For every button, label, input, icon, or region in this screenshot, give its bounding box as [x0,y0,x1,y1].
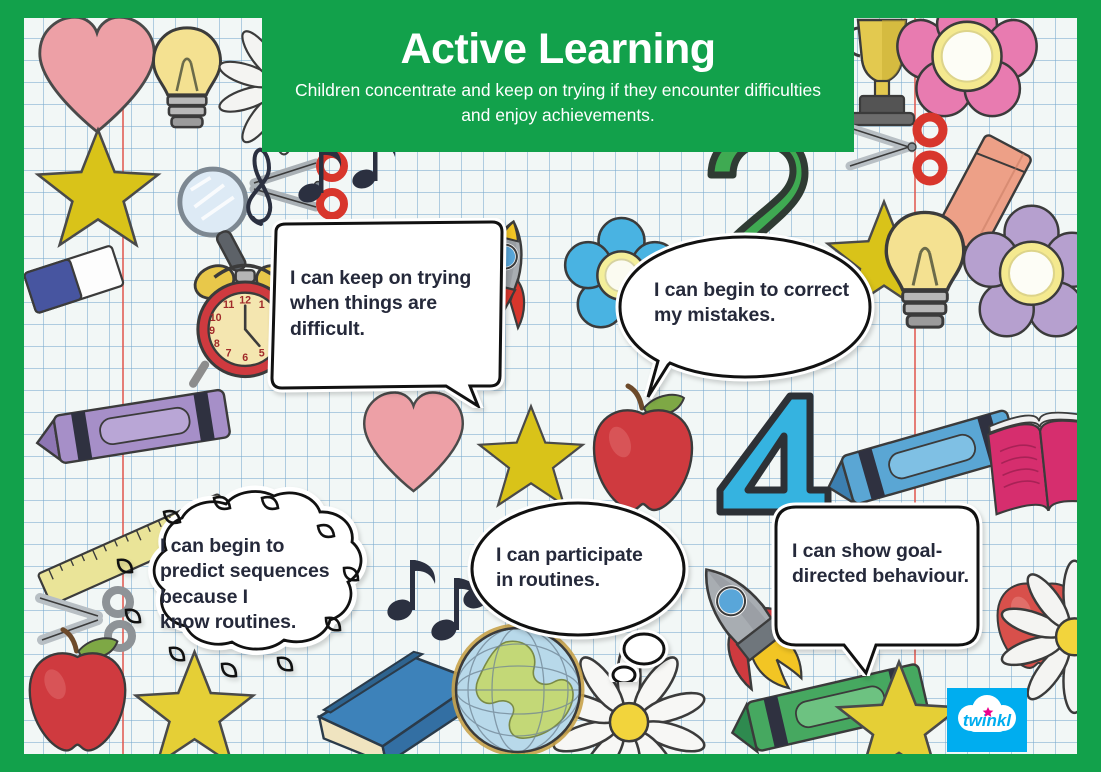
svg-text:10: 10 [210,312,222,324]
lightbulb-yellow-top-left [148,24,226,140]
page-title: Active Learning [286,26,830,72]
svg-text:8: 8 [214,338,220,350]
bubble-keep-on-trying: I can keep on trying when things are dif… [264,218,508,408]
svg-text:7: 7 [226,347,232,359]
frame-left [0,0,24,772]
eraser-white-blue-left [24,244,130,328]
star-yellow-top-left [34,126,162,254]
page-subtitle: Children concentrate and keep on trying … [286,78,830,126]
svg-text:6: 6 [242,352,248,364]
bubble-participate-routines-text: I can participate in routines. [496,543,676,594]
book-pink-right [974,403,1077,533]
bubble-predict-sequences-text: I can begin to predict sequences because… [160,534,360,635]
poster: 1212 345 678 91011 [0,0,1101,772]
flower-purple-right [964,208,1077,343]
frame-right [1077,0,1101,772]
bubble-goal-directed-text: I can show goal- directed behaviour. [792,539,972,590]
svg-text:9: 9 [209,325,215,337]
twinkl-logo[interactable]: twinkl [947,688,1027,752]
bubble-keep-on-trying-text: I can keep on trying when things are dif… [290,266,490,342]
crayon-purple-left [24,378,242,478]
bubble-goal-directed: I can show goal- directed behaviour. [766,501,984,676]
header-banner: Active Learning Children concentrate and… [262,14,854,152]
twinkl-logo-mark: twinkl [947,688,1027,752]
bubble-correct-mistakes-text: I can begin to correct my mistakes. [654,278,854,329]
bubble-participate-routines: I can participate in routines. [466,497,700,682]
bubble-predict-sequences: I can begin to predict sequences because… [112,482,394,700]
svg-text:11: 11 [223,299,234,311]
flower-pink-top-right [897,18,1037,123]
lightbulb-yellow-right [879,208,971,342]
heart-pink-top-left [32,18,162,142]
frame-bottom [0,754,1101,772]
bubble-correct-mistakes: I can begin to correct my mistakes. [612,231,878,406]
